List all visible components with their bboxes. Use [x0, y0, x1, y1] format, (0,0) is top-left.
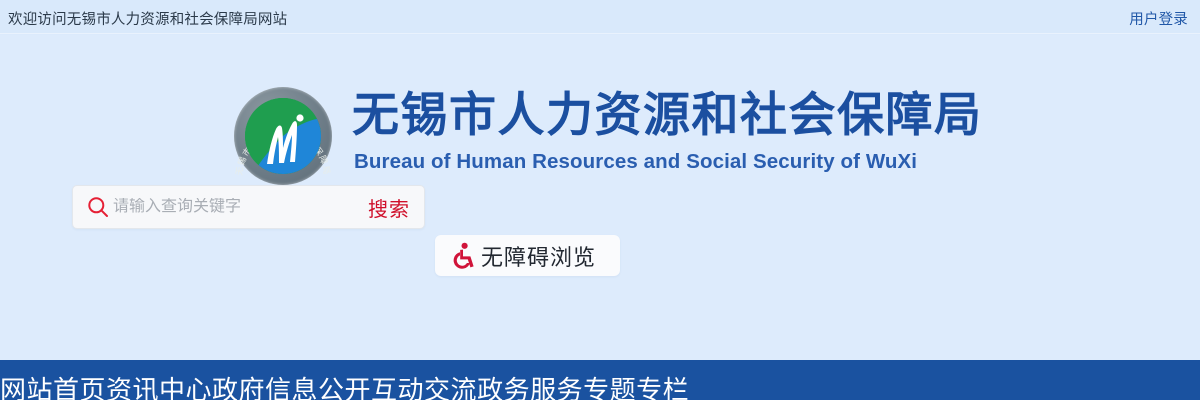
header-banner: 无锡市人力资源和社会保障局 无锡市人力资源和社会保障局 Bureau of Hu…	[0, 35, 1200, 360]
site-title-english: Bureau of Human Resources and Social Sec…	[354, 149, 917, 175]
nav-item-topics[interactable]: 专题专栏	[583, 374, 689, 400]
nav-item-gov-info[interactable]: 政府信息公开	[212, 374, 371, 400]
page-root: 欢迎访问无锡市人力资源和社会保障局网站 用户登录 无锡市人力资源和社会保障局	[0, 0, 1200, 400]
nav-item-interaction[interactable]: 互动交流	[371, 374, 477, 400]
wheelchair-icon	[447, 242, 481, 270]
search-bar: 搜索	[72, 185, 425, 229]
main-navigation-bar: 网站首页 资讯中心 政府信息公开 互动交流 政务服务 专题专栏	[0, 360, 1200, 400]
wuxi-hrss-emblem-icon: 无锡市人力资源和社会保障局	[234, 87, 332, 185]
accessibility-label: 无障碍浏览	[481, 240, 596, 272]
nav-item-home[interactable]: 网站首页	[0, 374, 106, 400]
site-title-chinese: 无锡市人力资源和社会保障局	[352, 87, 983, 145]
nav-item-services[interactable]: 政务服务	[477, 374, 583, 400]
welcome-text: 欢迎访问无锡市人力资源和社会保障局网站	[8, 8, 287, 29]
nav-list: 网站首页 资讯中心 政府信息公开 互动交流 政务服务 专题专栏	[0, 374, 689, 400]
emblem-inner-disc	[245, 98, 321, 174]
accessibility-browse-button[interactable]: 无障碍浏览	[435, 235, 620, 276]
user-login-link[interactable]: 用户登录	[1129, 8, 1188, 29]
nav-item-news[interactable]: 资讯中心	[106, 374, 212, 400]
top-utility-right: 用户登录	[1129, 8, 1188, 29]
search-input[interactable]	[113, 198, 362, 216]
emblem-w-mark	[245, 98, 321, 174]
top-utility-bar: 欢迎访问无锡市人力资源和社会保障局网站 用户登录	[0, 0, 1200, 34]
search-submit-button[interactable]: 搜索	[362, 193, 424, 222]
search-icon[interactable]	[83, 195, 113, 219]
